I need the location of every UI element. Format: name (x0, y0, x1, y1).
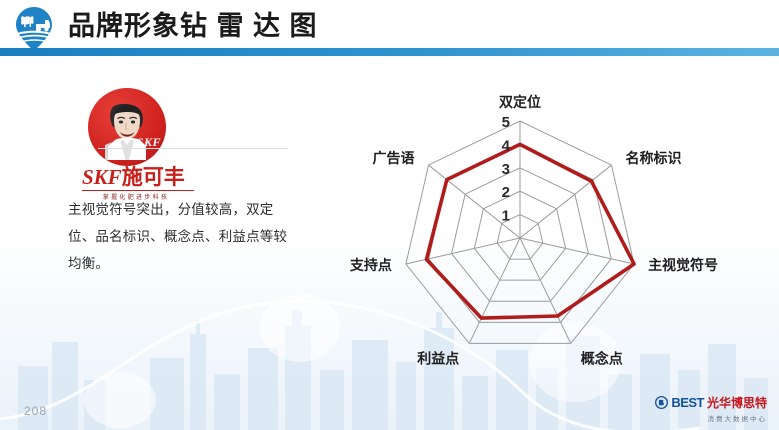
radar-axis-label-1: 名称标识 (625, 150, 681, 166)
radar-axis-label-4: 利益点 (417, 350, 459, 366)
skf-logo: SKF SKF施可丰 掌握化肥进步科技 (82, 88, 202, 188)
brand-logo-circle: SKF (88, 88, 166, 166)
radar-axis-labels: 双定位名称标识主视觉符号概念点利益点支持点广告语 (349, 94, 718, 366)
radar-spoke (520, 238, 571, 343)
slide-header: 品牌形象钻 雷 达 图 (0, 0, 779, 56)
radar-axis-label-6: 广告语 (373, 150, 415, 166)
radar-axis-label-2: 主视觉符号 (648, 257, 718, 273)
radar-axis-spokes (406, 121, 634, 343)
radar-axis-label-5: 支持点 (349, 257, 392, 273)
radar-spoke (469, 238, 520, 343)
wordmark-latin: SKF (82, 165, 122, 189)
radar-tick-labels: 12345 (502, 114, 511, 225)
radar-axis-label-3: 概念点 (581, 350, 623, 366)
brand-logo-block: SKF SKF施可丰 掌握化肥进步科技 (78, 88, 288, 188)
radar-chart-svg: 12345 双定位名称标识主视觉符号概念点利益点支持点广告语 (340, 72, 770, 382)
page-number: 208 (24, 404, 47, 418)
best-circle-icon (655, 396, 668, 409)
best-footer-logo: BEST 光华博思特 消费大数据中心 (649, 394, 767, 423)
radar-tick-label: 1 (502, 208, 510, 225)
footer-logo-cn: 光华博思特 (707, 394, 767, 411)
radar-tick-label: 4 (502, 137, 511, 154)
page-title: 品牌形象钻 雷 达 图 (68, 6, 318, 46)
brand-description: 主视觉符号突出，分值较高，双定位、品名标识、概念点、利益点等较均衡。 (68, 196, 296, 277)
wheat-field-pin-icon (10, 5, 58, 53)
radar-tick-label: 3 (502, 161, 510, 178)
brand-divider (98, 148, 288, 149)
radar-tick-label: 5 (502, 114, 510, 131)
wordmark-cn: 施可丰 (122, 166, 185, 189)
radar-tick-label: 2 (502, 184, 510, 201)
header-accent-bar (0, 48, 779, 56)
wordmark-rule (82, 190, 194, 191)
slide-canvas: 品牌形象钻 雷 达 图 (0, 0, 779, 430)
footer-logo-latin: BEST (671, 395, 704, 410)
footer-logo-subtitle: 消费大数据中心 (649, 413, 767, 423)
wordmark-text: SKF施可丰 (82, 166, 200, 189)
radar-axis-label-0: 双定位 (499, 94, 541, 110)
radar-series-polygon (426, 144, 634, 318)
radar-chart: 12345 双定位名称标识主视觉符号概念点利益点支持点广告语 (340, 72, 770, 382)
farmer-portrait-icon (96, 98, 158, 160)
